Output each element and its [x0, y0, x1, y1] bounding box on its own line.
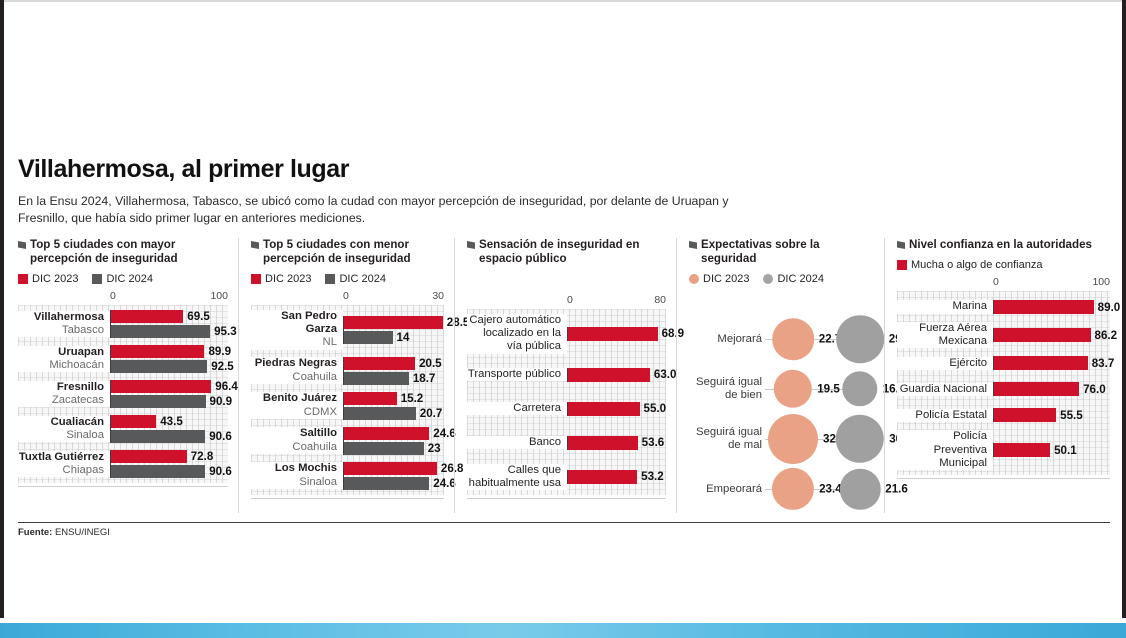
category-label: Calles que habitualmente usa — [467, 464, 567, 490]
bubble-marker — [768, 414, 818, 464]
chart-row: SaltilloCoahuila24.623 — [251, 427, 444, 455]
panel-title-text: Sensación de inseguridad en espacio públ… — [479, 238, 666, 266]
bar-track: 89.0 — [993, 300, 1120, 314]
bubble-track: 23.421.6 — [765, 465, 874, 513]
legend-label: DIC 2024 — [106, 273, 152, 285]
bar-value-label: 83.7 — [1092, 357, 1115, 370]
bar: 92.5 — [111, 360, 234, 373]
chart-row: Tuxtla GutiérrezChiapas72.890.6 — [18, 450, 228, 478]
panel-title-text: Top 5 ciudades con menor percepción de i… — [263, 238, 444, 266]
legend-dot-salmon-icon — [689, 274, 699, 284]
bar-fill — [994, 408, 1056, 422]
legend: DIC 2023 DIC 2024 — [251, 273, 444, 285]
category-label: Transporte público — [467, 368, 567, 381]
bottom-accent-strip — [0, 623, 1126, 638]
bar-value-label: 90.6 — [209, 465, 232, 478]
axis-tick-max: 100 — [1092, 276, 1110, 288]
bar-fill — [111, 380, 211, 393]
chart-row: CualiacánSinaloa43.590.6 — [18, 415, 228, 443]
flag-bullet-icon — [897, 241, 905, 249]
bar: 53.6 — [568, 436, 666, 450]
bar-value-label: 23 — [428, 442, 441, 455]
axis-tick-min: 0 — [567, 294, 573, 306]
bar-value-label: 72.8 — [191, 450, 214, 463]
panel-title: Top 5 ciudades con menor percepción de i… — [251, 238, 444, 266]
bar-fill — [111, 310, 183, 323]
legend-label: DIC 2024 — [777, 273, 823, 285]
legend-label: DIC 2023 — [32, 273, 78, 285]
bar-track: 96.490.9 — [110, 380, 238, 408]
bar-track: 28.514 — [343, 316, 469, 344]
bar-track: 53.2 — [567, 470, 666, 484]
category-label: Seguirá igual de bien — [689, 376, 765, 402]
category-city: Fresnillo — [18, 381, 104, 394]
chart-row: VillahermosaTabasco69.595.3 — [18, 310, 228, 338]
category-state: Coahuila — [251, 371, 337, 384]
legend-item-dic2024: DIC 2024 — [763, 273, 823, 285]
flag-bullet-icon — [467, 241, 475, 249]
chart-row: FresnilloZacatecas96.490.9 — [18, 380, 228, 408]
bubble-marker — [836, 415, 884, 463]
category-label: Guardia Nacional — [897, 383, 993, 396]
legend-label: DIC 2023 — [703, 273, 749, 285]
legend-label: DIC 2023 — [265, 273, 311, 285]
category-label: UruapanMichoacán — [18, 346, 110, 372]
legend: DIC 2023 DIC 2024 — [689, 273, 874, 285]
category-label: Banco — [467, 436, 567, 449]
chart-row: Cajero automático localizado en la vía p… — [467, 314, 666, 354]
bar: 63.0 — [568, 368, 676, 382]
panel-title-text: Nivel confianza en la autoridades — [909, 238, 1092, 252]
category-state: Sinaloa — [18, 429, 104, 442]
standfirst: En la Ensu 2024, Villahermosa, Tabasco, … — [18, 193, 763, 226]
bar-fill — [568, 327, 658, 341]
category-label: Seguirá igual de mal — [689, 426, 765, 452]
category-label: Tuxtla GutiérrezChiapas — [18, 451, 110, 477]
legend-dot-gray-icon — [763, 274, 773, 284]
bubble-track: 19.516.5 — [765, 365, 874, 413]
legend-swatch-red-icon — [251, 274, 261, 284]
category-label: Ejército — [897, 357, 993, 370]
bar-track: 72.890.6 — [110, 450, 232, 478]
bar-value-label: 96.4 — [215, 380, 238, 393]
legend: Mucha o algo de confianza — [897, 259, 1110, 271]
category-state: Tabasco — [18, 324, 104, 337]
bar: 72.8 — [111, 450, 232, 463]
bar-fill — [344, 392, 397, 405]
x-axis-empty — [689, 290, 874, 305]
bar-fill — [344, 316, 443, 329]
bar-value-label: 53.6 — [642, 436, 665, 449]
axis-tick-min: 0 — [110, 290, 116, 302]
category-city: Cualiacán — [18, 416, 104, 429]
bubble-marker — [842, 371, 877, 406]
legend-label: Mucha o algo de confianza — [911, 259, 1042, 271]
legend: DIC 2023 DIC 2024 — [18, 273, 228, 285]
category-label: CualiacánSinaloa — [18, 416, 110, 442]
category-city: Los Mochis — [251, 462, 337, 475]
panel-title-text: Expectativas sobre la seguridad — [701, 238, 874, 266]
bar-value-label: 24.6 — [433, 477, 456, 490]
source-note: Fuente: ENSU/INEGI — [18, 522, 1110, 538]
panels-container: Top 5 ciudades con mayor percepción de i… — [18, 238, 1110, 513]
bar-value-label: 86.2 — [1095, 329, 1118, 342]
category-label: Policía Preventiva Municipal — [897, 430, 993, 470]
bar: 23 — [344, 442, 456, 455]
chart-row: Ejército83.7 — [897, 352, 1110, 374]
bar-fill — [568, 368, 650, 382]
legend-swatch-gray-icon — [92, 274, 102, 284]
bar: 53.2 — [568, 470, 666, 484]
panel-title: Nivel confianza en la autoridades — [897, 238, 1110, 252]
bar-fill — [344, 372, 409, 385]
bar-value-label: 63.0 — [654, 368, 677, 381]
category-city: Saltillo — [251, 427, 337, 440]
source-label: Fuente: — [18, 527, 52, 538]
bar: 55.0 — [568, 402, 666, 416]
panel-title: Top 5 ciudades con mayor percepción de i… — [18, 238, 228, 266]
category-state: Chiapas — [18, 464, 104, 477]
category-label: Los MochisSinaloa — [251, 462, 343, 488]
bar-fill — [994, 300, 1094, 314]
plot-area: San Pedro GarzaNL28.514Piedras NegrasCoa… — [251, 305, 444, 495]
source-value: ENSU/INEGI — [55, 527, 110, 538]
bar-fill — [344, 357, 415, 370]
category-city: Villahermosa — [18, 311, 104, 324]
bar: 83.7 — [994, 356, 1114, 370]
bar-value-label: 55.0 — [644, 402, 667, 415]
bar-value-label: 53.2 — [641, 470, 664, 483]
bar-value-label: 50.1 — [1054, 444, 1077, 457]
bar-track: 86.2 — [993, 328, 1117, 342]
chart-row: Los MochisSinaloa26.824.6 — [251, 462, 444, 490]
bar-fill — [568, 470, 637, 484]
legend-label: DIC 2024 — [339, 273, 385, 285]
chart-row: Marina89.0 — [897, 296, 1110, 318]
panel-title-text: Top 5 ciudades con mayor percepción de i… — [30, 238, 228, 266]
bar-track: 55.5 — [993, 408, 1110, 422]
bar-fill — [111, 450, 187, 463]
chart-row: Calles que habitualmente usa53.2 — [467, 464, 666, 490]
panel-sensacion: Sensación de inseguridad en espacio públ… — [454, 238, 676, 513]
chart-row: Piedras NegrasCoahuila20.518.7 — [251, 357, 444, 385]
category-label: Piedras NegrasCoahuila — [251, 357, 343, 383]
legend-swatch-red-icon — [18, 274, 28, 284]
bar: 26.8 — [344, 462, 463, 475]
bar: 24.6 — [344, 427, 456, 440]
plot-area: VillahermosaTabasco69.595.3UruapanMichoa… — [18, 305, 228, 483]
chart-row: UruapanMichoacán89.992.5 — [18, 345, 228, 373]
chart-row: Fuerza Aérea Mexicana86.2 — [897, 322, 1110, 348]
category-state: Sinaloa — [251, 476, 337, 489]
page-title: Villahermosa, al primer lugar — [18, 155, 1110, 184]
category-label: Fuerza Aérea Mexicana — [897, 322, 993, 348]
axis-tick-max: 30 — [432, 290, 444, 302]
bar: 89.9 — [111, 345, 234, 358]
bar: 69.5 — [111, 310, 237, 323]
panel-top5-menor: Top 5 ciudades con menor percepción de i… — [238, 238, 454, 513]
bar-track: 26.824.6 — [343, 462, 463, 490]
bar-track: 53.6 — [567, 436, 666, 450]
bar-fill — [111, 360, 207, 373]
bubble-row: Mejorará22.729.8 — [689, 315, 874, 363]
chart-row: Banco53.6 — [467, 430, 666, 456]
legend-item-dic2023: DIC 2023 — [251, 273, 311, 285]
bubble-marker — [840, 469, 881, 510]
bar: 18.7 — [344, 372, 444, 385]
bar-value-label: 89.0 — [1098, 301, 1121, 314]
bar: 43.5 — [111, 415, 232, 428]
category-city: San Pedro Garza — [251, 310, 337, 336]
bar-track: 68.9 — [567, 327, 684, 341]
legend-swatch-red-icon — [897, 260, 907, 270]
flag-bullet-icon — [689, 241, 697, 249]
bar: 68.9 — [568, 327, 684, 341]
axis-tick-min: 0 — [343, 290, 349, 302]
bubble-row: Seguirá igual de bien19.516.5 — [689, 365, 874, 413]
bar: 50.1 — [994, 443, 1110, 457]
bar-fill — [111, 345, 204, 358]
bar-fill — [344, 427, 429, 440]
x-axis: 0 30 — [251, 290, 444, 305]
axis-tick-min: 0 — [993, 276, 999, 288]
bar-value-label: 76.0 — [1083, 383, 1106, 396]
bar-fill — [111, 430, 205, 443]
bar-value-label: 20.7 — [420, 407, 443, 420]
chart-row: Guardia Nacional76.0 — [897, 378, 1110, 400]
bar-fill — [111, 325, 210, 338]
legend-item-dic2024: DIC 2024 — [92, 273, 152, 285]
panel-top5-mayor: Top 5 ciudades con mayor percepción de i… — [18, 238, 238, 513]
bubble-row: Empeorará23.421.6 — [689, 465, 874, 513]
top-rule — [4, 0, 1122, 2]
flag-bullet-icon — [251, 241, 259, 249]
bar-fill — [994, 356, 1088, 370]
right-page-border — [1122, 0, 1126, 618]
bar-fill — [111, 395, 206, 408]
bar-track: 63.0 — [567, 368, 676, 382]
bubble-track: 22.729.8 — [765, 315, 874, 363]
x-axis: 0 100 — [897, 276, 1110, 291]
bar-value-label: 92.5 — [211, 360, 234, 373]
category-label: SaltilloCoahuila — [251, 427, 343, 453]
bar: 90.9 — [111, 395, 238, 408]
category-label: FresnilloZacatecas — [18, 381, 110, 407]
bubble-marker — [774, 370, 812, 408]
legend-item-dic2023: DIC 2023 — [689, 273, 749, 285]
bar: 90.6 — [111, 465, 232, 478]
bar: 15.2 — [344, 392, 444, 405]
category-label: VillahermosaTabasco — [18, 311, 110, 337]
bar-value-label: 24.6 — [433, 427, 456, 440]
plot-area: Marina89.0Fuerza Aérea Mexicana86.2Ejérc… — [897, 291, 1110, 475]
panel-title: Expectativas sobre la seguridad — [689, 238, 874, 266]
category-label: Cajero automático localizado en la vía p… — [467, 314, 567, 354]
category-label: Empeorará — [689, 483, 765, 496]
bar-fill — [344, 462, 437, 475]
category-state: Michoacán — [18, 359, 104, 372]
bar-fill — [994, 443, 1050, 457]
chart-row: Benito JuárezCDMX15.220.7 — [251, 392, 444, 420]
bar-value-label: 15.2 — [401, 392, 424, 405]
bar-value-label: 43.5 — [160, 415, 183, 428]
bar-fill — [344, 477, 429, 490]
x-axis: 0 80 — [467, 294, 666, 309]
axis-tick-max: 80 — [654, 294, 666, 306]
legend-placeholder — [467, 273, 666, 289]
bar-track: 50.1 — [993, 443, 1110, 457]
plot-area: Mejorará22.729.8Seguirá igual de bien19.… — [689, 305, 874, 513]
bar-value-label: 90.9 — [210, 395, 233, 408]
bubble-value-label: 23.4 — [819, 483, 842, 496]
category-city: Benito Juárez — [251, 392, 337, 405]
flag-bullet-icon — [18, 241, 26, 249]
bar-value-label: 90.6 — [209, 430, 232, 443]
bubble-row: Seguirá igual de mal32.930.9 — [689, 415, 874, 463]
legend-item-confianza: Mucha o algo de confianza — [897, 259, 1042, 271]
chart-row: Carretera55.0 — [467, 396, 666, 422]
bar: 90.6 — [111, 430, 232, 443]
category-label: Policía Estatal — [897, 409, 993, 422]
bar-track: 83.7 — [993, 356, 1114, 370]
bar-fill — [344, 442, 424, 455]
legend-item-dic2023: DIC 2023 — [18, 273, 78, 285]
chart-row: Policía Estatal55.5 — [897, 404, 1110, 426]
legend-swatch-gray-icon — [325, 274, 335, 284]
bar-fill — [568, 436, 638, 450]
bar-track: 76.0 — [993, 382, 1110, 396]
chart-row: Transporte público63.0 — [467, 362, 666, 388]
bar-fill — [568, 402, 640, 416]
category-state: Zacatecas — [18, 394, 104, 407]
infographic: Villahermosa, al primer lugar En la Ensu… — [18, 155, 1110, 538]
bar-track: 15.220.7 — [343, 392, 444, 420]
axis-tick-max: 100 — [210, 290, 228, 302]
bar: 76.0 — [994, 382, 1110, 396]
bar: 55.5 — [994, 408, 1110, 422]
bar: 14 — [344, 331, 469, 344]
bar-value-label: 18.7 — [413, 372, 436, 385]
bubble-marker — [772, 468, 814, 510]
bar: 20.5 — [344, 357, 444, 370]
panel-confianza: Nivel confianza en la autoridades Mucha … — [884, 238, 1110, 513]
bar-fill — [111, 415, 156, 428]
plot-area: Cajero automático localizado en la vía p… — [467, 309, 666, 495]
bubble-marker — [836, 315, 884, 363]
bar-track: 89.992.5 — [110, 345, 234, 373]
category-label: Benito JuárezCDMX — [251, 392, 343, 418]
bar-fill — [344, 331, 393, 344]
category-label: Mejorará — [689, 333, 765, 346]
bar: 20.7 — [344, 407, 444, 420]
category-label: San Pedro GarzaNL — [251, 310, 343, 350]
chart-row: Policía Preventiva Municipal50.1 — [897, 430, 1110, 470]
bar: 96.4 — [111, 380, 238, 393]
bar-value-label: 55.5 — [1060, 409, 1083, 422]
panel-title: Sensación de inseguridad en espacio públ… — [467, 238, 666, 266]
bar-track: 20.518.7 — [343, 357, 444, 385]
legend-item-dic2024: DIC 2024 — [325, 273, 385, 285]
bar: 95.3 — [111, 325, 237, 338]
category-state: NL — [251, 336, 337, 349]
category-state: CDMX — [251, 406, 337, 419]
bar: 89.0 — [994, 300, 1120, 314]
bar-track: 43.590.6 — [110, 415, 232, 443]
bar: 24.6 — [344, 477, 463, 490]
bubble-value-label: 19.5 — [817, 383, 840, 396]
bar: 28.5 — [344, 316, 469, 329]
bar-fill — [344, 407, 416, 420]
category-city: Tuxtla Gutiérrez — [18, 451, 104, 464]
bar-fill — [111, 465, 205, 478]
x-axis: 0 100 — [18, 290, 228, 305]
bar-value-label: 14 — [397, 331, 410, 344]
category-city: Piedras Negras — [251, 357, 337, 370]
bar-value-label: 95.3 — [214, 325, 237, 338]
category-city: Uruapan — [18, 346, 104, 359]
bar-value-label: 69.5 — [187, 310, 210, 323]
bar-fill — [994, 328, 1091, 342]
category-label: Carretera — [467, 402, 567, 415]
bar-value-label: 89.9 — [208, 345, 231, 358]
bar-value-label: 20.5 — [419, 357, 442, 370]
panel-expectativas: Expectativas sobre la seguridad DIC 2023… — [676, 238, 884, 513]
category-state: Coahuila — [251, 441, 337, 454]
bar-track: 55.0 — [567, 402, 666, 416]
bubble-marker — [772, 318, 814, 360]
bubble-track: 32.930.9 — [765, 415, 874, 463]
bar-track: 69.595.3 — [110, 310, 237, 338]
bar-fill — [994, 382, 1079, 396]
bar-track: 24.623 — [343, 427, 456, 455]
chart-row: San Pedro GarzaNL28.514 — [251, 310, 444, 350]
category-label: Marina — [897, 300, 993, 313]
bar: 86.2 — [994, 328, 1117, 342]
left-page-border — [0, 0, 4, 618]
